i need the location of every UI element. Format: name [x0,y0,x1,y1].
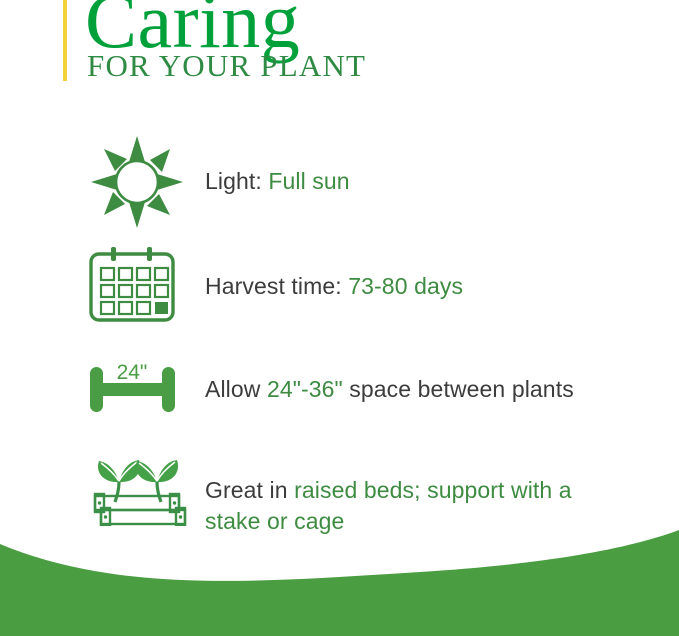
care-item-spacing-label: Allow [205,376,267,402]
care-items-list: Light: Full sun [0,0,679,560]
care-item-raised-bed-label: Great in [205,477,294,503]
bottom-wave-decoration [0,516,679,636]
spacing-icon-label: 24" [117,361,148,384]
caring-for-your-plant-infographic: Caring FOR YOUR PLANT [0,0,679,636]
care-item-light-label: Light: [205,168,268,194]
care-item-light-value: Full sun [268,168,349,194]
care-item-spacing-text: Allow 24"-36" space between plants [205,374,625,405]
care-item-harvest-value: 73-80 days [348,273,463,299]
spacing-icon: 24" [85,357,189,419]
care-item-harvest-label: Harvest time: [205,273,348,299]
raised-bed-icon [85,448,189,526]
care-item-spacing-value: 24"-36" [267,376,343,402]
care-item-spacing-label-after: space between plants [343,376,574,402]
sun-icon [85,132,189,232]
care-item-harvest-text: Harvest time: 73-80 days [205,271,625,302]
calendar-icon [85,245,189,325]
care-item-light-text: Light: Full sun [205,166,625,197]
